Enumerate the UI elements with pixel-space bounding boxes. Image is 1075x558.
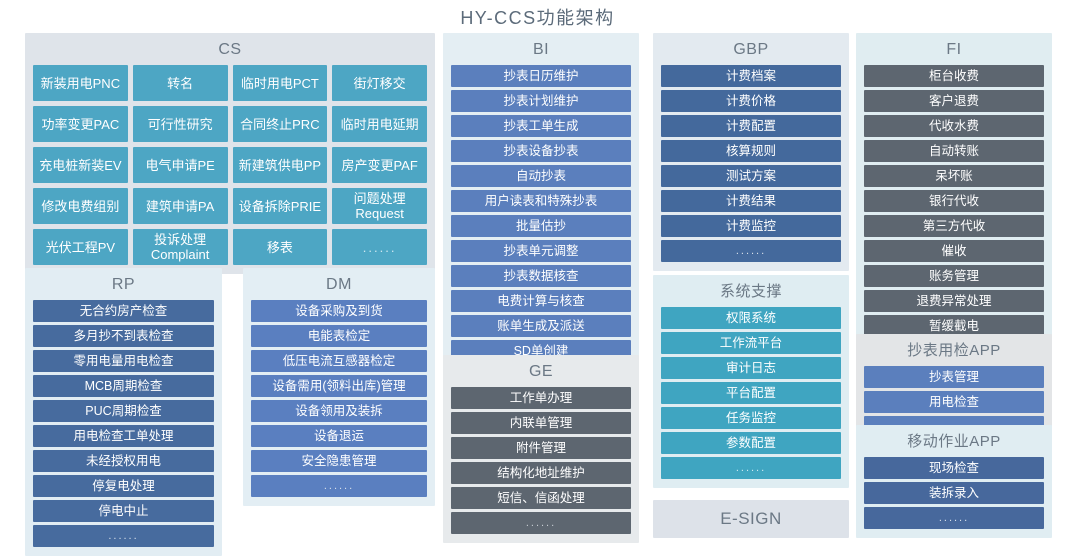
panel-ge: GE 工作单办理内联单管理附件管理结构化地址维护短信、信函处理...... xyxy=(443,355,639,543)
panel-dm-cells: 设备采购及到货电能表检定低压电流互感器检定设备需用(领料出库)管理设备领用及装拆… xyxy=(251,300,427,497)
panel-dm-title: DM xyxy=(251,274,427,296)
function-cell[interactable]: 计费监控 xyxy=(661,215,841,237)
panel-gbp: GBP 计费档案计费价格计费配置核算规则测试方案计费结果计费监控...... xyxy=(653,33,849,271)
function-cell[interactable]: 房产变更PAF xyxy=(332,147,427,183)
function-cell[interactable]: 无合约房产检查 xyxy=(33,300,214,322)
function-cell[interactable]: 审计日志 xyxy=(661,357,841,379)
function-cell[interactable]: 柜台收费 xyxy=(864,65,1044,87)
function-cell[interactable]: 工作单办理 xyxy=(451,387,631,409)
panel-mobile-app-cells: 现场检查装拆录入...... xyxy=(864,457,1044,529)
more-items-cell[interactable]: ...... xyxy=(661,240,841,262)
function-cell[interactable]: 账单生成及派送 xyxy=(451,315,631,337)
panel-rp: RP 无合约房产检查多月抄不到表检查零用电量用电检查MCB周期检查PUC周期检查… xyxy=(25,268,222,556)
function-cell[interactable]: 投诉处理Complaint xyxy=(133,229,228,265)
panel-cs-cells: 新装用电PNC转名临时用电PCT街灯移交功率变更PAC可行性研究合同终止PRC临… xyxy=(33,65,427,265)
function-cell[interactable]: 多月抄不到表检查 xyxy=(33,325,214,347)
function-cell[interactable]: 代收水费 xyxy=(864,115,1044,137)
function-cell[interactable]: 设备采购及到货 xyxy=(251,300,427,322)
function-cell[interactable]: 退费异常处理 xyxy=(864,290,1044,312)
function-cell[interactable]: MCB周期检查 xyxy=(33,375,214,397)
function-cell[interactable]: 抄表设备抄表 xyxy=(451,140,631,162)
function-cell[interactable]: 移表 xyxy=(233,229,328,265)
function-cell[interactable]: 计费档案 xyxy=(661,65,841,87)
panel-fi: FI 柜台收费客户退费代收水费自动转账呆坏账银行代收第三方代收催收账务管理退费异… xyxy=(856,33,1052,371)
function-cell[interactable]: 功率变更PAC xyxy=(33,106,128,142)
function-cell[interactable]: 批量估抄 xyxy=(451,215,631,237)
panel-dm: DM 设备采购及到货电能表检定低压电流互感器检定设备需用(领料出库)管理设备领用… xyxy=(243,268,435,506)
more-items-cell[interactable]: ...... xyxy=(451,512,631,534)
panel-gbp-title: GBP xyxy=(661,39,841,61)
function-cell[interactable]: 计费配置 xyxy=(661,115,841,137)
panel-bi-cells: 抄表日历维护抄表计划维护抄表工单生成抄表设备抄表自动抄表用户读表和特殊抄表批量估… xyxy=(451,65,631,387)
panel-gbp-cells: 计费档案计费价格计费配置核算规则测试方案计费结果计费监控...... xyxy=(661,65,841,262)
function-cell[interactable]: 用电检查 xyxy=(864,391,1044,413)
more-items-cell[interactable]: ...... xyxy=(864,507,1044,529)
function-cell[interactable]: 参数配置 xyxy=(661,432,841,454)
function-cell[interactable]: 内联单管理 xyxy=(451,412,631,434)
panel-system-support-title: 系统支撑 xyxy=(661,281,841,303)
panel-bi: BI 抄表日历维护抄表计划维护抄表工单生成抄表设备抄表自动抄表用户读表和特殊抄表… xyxy=(443,33,639,396)
function-cell[interactable]: 结构化地址维护 xyxy=(451,462,631,484)
function-cell[interactable]: 用户读表和特殊抄表 xyxy=(451,190,631,212)
function-cell[interactable]: 自动转账 xyxy=(864,140,1044,162)
function-cell[interactable]: 停电中止 xyxy=(33,500,214,522)
panel-rp-title: RP xyxy=(33,274,214,296)
function-cell[interactable]: 抄表单元调整 xyxy=(451,240,631,262)
function-cell[interactable]: 设备需用(领料出库)管理 xyxy=(251,375,427,397)
panel-mobile-app-title: 移动作业APP xyxy=(864,431,1044,453)
function-cell[interactable]: PUC周期检查 xyxy=(33,400,214,422)
function-cell[interactable]: 低压电流互感器检定 xyxy=(251,350,427,372)
function-cell[interactable]: 核算规则 xyxy=(661,140,841,162)
function-cell[interactable]: 权限系统 xyxy=(661,307,841,329)
function-cell[interactable]: 短信、信函处理 xyxy=(451,487,631,509)
function-cell[interactable]: 现场检查 xyxy=(864,457,1044,479)
function-cell[interactable]: 光伏工程PV xyxy=(33,229,128,265)
function-cell[interactable]: 可行性研究 xyxy=(133,106,228,142)
page-title: HY-CCS功能架构 xyxy=(0,4,1075,30)
function-cell[interactable]: 新装用电PNC xyxy=(33,65,128,101)
function-cell[interactable]: 安全隐患管理 xyxy=(251,450,427,472)
function-cell[interactable]: 任务监控 xyxy=(661,407,841,429)
function-cell[interactable]: 抄表工单生成 xyxy=(451,115,631,137)
function-cell[interactable]: 抄表管理 xyxy=(864,366,1044,388)
function-cell[interactable]: 电气申请PE xyxy=(133,147,228,183)
function-cell[interactable]: 抄表计划维护 xyxy=(451,90,631,112)
function-cell[interactable]: 充电桩新装EV xyxy=(33,147,128,183)
function-cell[interactable]: 抄表数据核查 xyxy=(451,265,631,287)
function-cell[interactable]: 第三方代收 xyxy=(864,215,1044,237)
more-items-cell[interactable]: ...... xyxy=(332,229,427,265)
panel-mobile-app: 移动作业APP 现场检查装拆录入...... xyxy=(856,425,1052,538)
function-cell[interactable]: 建筑申请PA xyxy=(133,188,228,224)
function-cell[interactable]: 转名 xyxy=(133,65,228,101)
panel-esign: E-SIGN xyxy=(653,500,849,538)
function-cell[interactable]: 自动抄表 xyxy=(451,165,631,187)
function-cell[interactable]: 催收 xyxy=(864,240,1044,262)
function-cell[interactable]: 计费价格 xyxy=(661,90,841,112)
more-items-cell[interactable]: ...... xyxy=(33,525,214,547)
panel-ge-title: GE xyxy=(451,361,631,383)
function-cell[interactable]: 用电检查工单处理 xyxy=(33,425,214,447)
function-cell[interactable]: 电费计算与核查 xyxy=(451,290,631,312)
function-cell[interactable]: 零用电量用电检查 xyxy=(33,350,214,372)
function-cell[interactable]: 未经授权用电 xyxy=(33,450,214,472)
panel-cs-title: CS xyxy=(33,39,427,61)
function-cell[interactable]: 电能表检定 xyxy=(251,325,427,347)
panel-system-support: 系统支撑 权限系统工作流平台审计日志平台配置任务监控参数配置...... xyxy=(653,275,849,488)
function-cell[interactable]: 客户退费 xyxy=(864,90,1044,112)
panel-fi-cells: 柜台收费客户退费代收水费自动转账呆坏账银行代收第三方代收催收账务管理退费异常处理… xyxy=(864,65,1044,362)
function-cell[interactable]: 问题处理Request xyxy=(332,188,427,224)
function-cell[interactable]: 抄表日历维护 xyxy=(451,65,631,87)
function-cell[interactable]: 工作流平台 xyxy=(661,332,841,354)
more-items-cell[interactable]: ...... xyxy=(661,457,841,479)
function-cell[interactable]: 设备退运 xyxy=(251,425,427,447)
more-items-cell[interactable]: ...... xyxy=(251,475,427,497)
function-cell[interactable]: 合同终止PRC xyxy=(233,106,328,142)
panel-meter-app-title: 抄表用检APP xyxy=(864,340,1044,362)
panel-cs: CS 新装用电PNC转名临时用电PCT街灯移交功率变更PAC可行性研究合同终止P… xyxy=(25,33,435,274)
function-cell[interactable]: 街灯移交 xyxy=(332,65,427,101)
function-cell[interactable]: 账务管理 xyxy=(864,265,1044,287)
function-cell[interactable]: 停复电处理 xyxy=(33,475,214,497)
function-cell[interactable]: 呆坏账 xyxy=(864,165,1044,187)
function-cell[interactable]: 新建筑供电PP xyxy=(233,147,328,183)
panel-fi-title: FI xyxy=(864,39,1044,61)
function-cell[interactable]: 测试方案 xyxy=(661,165,841,187)
function-cell[interactable]: 计费结果 xyxy=(661,190,841,212)
function-cell[interactable]: 银行代收 xyxy=(864,190,1044,212)
function-cell[interactable]: 附件管理 xyxy=(451,437,631,459)
function-cell[interactable]: 临时用电延期 xyxy=(332,106,427,142)
panel-system-support-cells: 权限系统工作流平台审计日志平台配置任务监控参数配置...... xyxy=(661,307,841,479)
panel-rp-cells: 无合约房产检查多月抄不到表检查零用电量用电检查MCB周期检查PUC周期检查用电检… xyxy=(33,300,214,547)
function-cell[interactable]: 设备领用及装拆 xyxy=(251,400,427,422)
function-cell[interactable]: 装拆录入 xyxy=(864,482,1044,504)
panel-esign-title: E-SIGN xyxy=(661,506,841,532)
panel-ge-cells: 工作单办理内联单管理附件管理结构化地址维护短信、信函处理...... xyxy=(451,387,631,534)
function-cell[interactable]: 平台配置 xyxy=(661,382,841,404)
panel-bi-title: BI xyxy=(451,39,631,61)
function-cell[interactable]: 修改电费组别 xyxy=(33,188,128,224)
function-cell[interactable]: 临时用电PCT xyxy=(233,65,328,101)
function-cell[interactable]: 设备拆除PRIE xyxy=(233,188,328,224)
